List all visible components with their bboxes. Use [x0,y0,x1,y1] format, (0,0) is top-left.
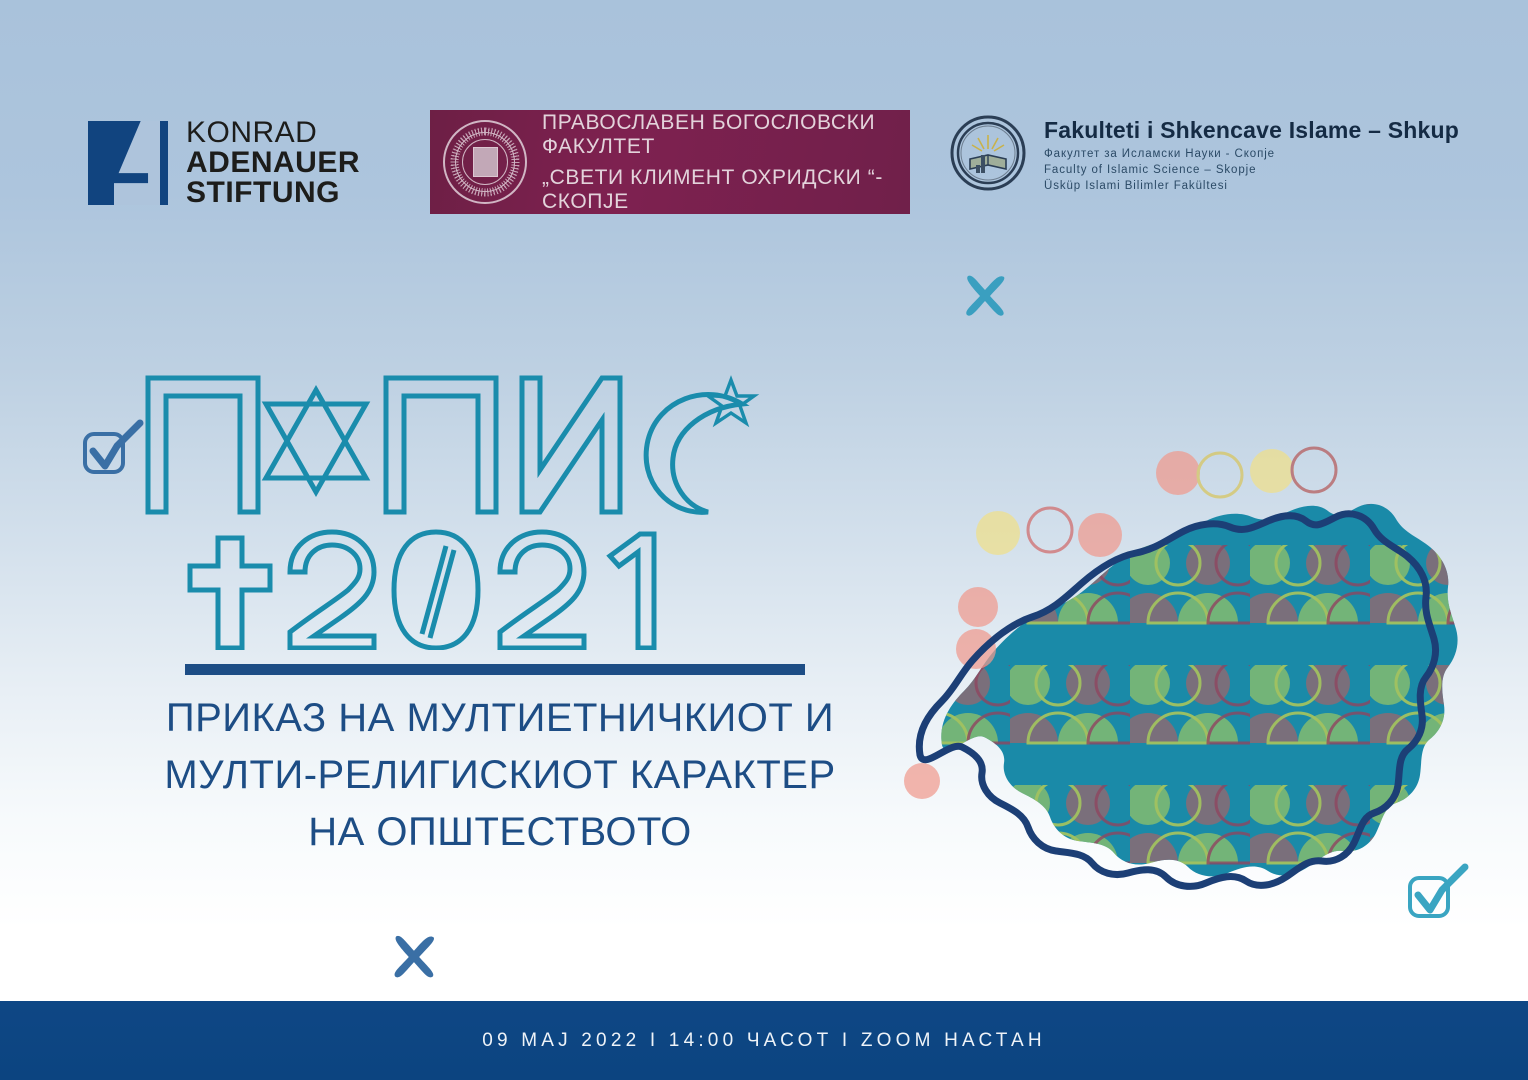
orthodox-faculty-line-1: ПРАВОСЛАВЕН БОГОСЛОВСКИ ФАКУЛТЕТ [542,111,910,159]
kas-logo-text: KONRAD ADENAUER STIFTUNG [186,118,360,208]
kas-logo-mark-icon [88,121,168,205]
checkbox-check-bottom-right-icon [1405,862,1477,932]
kas-line-2: ADENAUER [186,148,360,178]
logo-konrad-adenauer-stiftung: KONRAD ADENAUER STIFTUNG [88,118,360,208]
poster-canvas: KONRAD ADENAUER STIFTUNG ПРАВОСЛАВЕН БОГ… [0,0,1528,1080]
logo-islamic-sciences-faculty: Fakulteti i Shkencave Islame – Shkup Фак… [950,115,1459,192]
footer-event-details: 09 МАЈ 2022 I 14:00 ЧАСОТ I ZOOM НАСТАН [482,1030,1046,1052]
islamic-faculty-text: Fakulteti i Shkencave Islame – Shkup Фак… [1044,115,1459,192]
logo-orthodox-theological-faculty: ПРАВОСЛАВЕН БОГОСЛОВСКИ ФАКУЛТЕТ „СВЕТИ … [430,110,910,214]
islamic-faculty-subtitle-en: Faculty of Islamic Science – Skopje [1044,164,1459,176]
orthodox-faculty-text: ПРАВОСЛАВЕН БОГОСЛОВСКИ ФАКУЛТЕТ „СВЕТИ … [542,111,910,214]
footer-bar: 09 МАЈ 2022 I 14:00 ЧАСОТ I ZOOM НАСТАН [0,1001,1528,1080]
title-block [0,360,900,650]
title-divider [185,664,805,675]
islamic-faculty-subtitle-tr: Üsküp Islami Bilimler Fakültesi [1044,180,1459,192]
x-brush-mark-bottom-left-icon [386,928,444,986]
wordmark-popis-2021 [130,360,770,650]
x-brush-mark-top-right-icon [958,268,1014,324]
orthodox-faculty-line-2: „СВЕТИ КЛИМЕНТ ОХРИДСКИ “- СКОПЈЕ [542,166,910,214]
subtitle-line-1: ПРИКАЗ НА МУЛТИЕТНИЧКИОТ И [60,690,940,747]
subtitle-line-3: НА ОПШТЕСТВОТО [60,804,940,861]
subtitle-block: ПРИКАЗ НА МУЛТИЕТНИЧКИОТ И МУЛТИ-РЕЛИГИС… [60,690,940,860]
map-people-pattern [890,425,1490,945]
islamic-faculty-seal-icon [950,115,1026,191]
macedonia-population-map [890,425,1490,945]
kas-line-3: STIFTUNG [186,178,360,208]
islamic-faculty-subtitle-mk: Факултет за Исламски Науки - Скопје [1044,148,1459,160]
logo-row: KONRAD ADENAUER STIFTUNG ПРАВОСЛАВЕН БОГ… [0,0,1528,230]
orthodox-faculty-seal-icon [442,119,528,205]
subtitle-line-2: МУЛТИ-РЕЛИГИСКИОТ КАРАКТЕР [60,747,940,804]
kas-line-1: KONRAD [186,118,360,148]
islamic-faculty-title: Fakulteti i Shkencave Islame – Shkup [1044,117,1459,144]
